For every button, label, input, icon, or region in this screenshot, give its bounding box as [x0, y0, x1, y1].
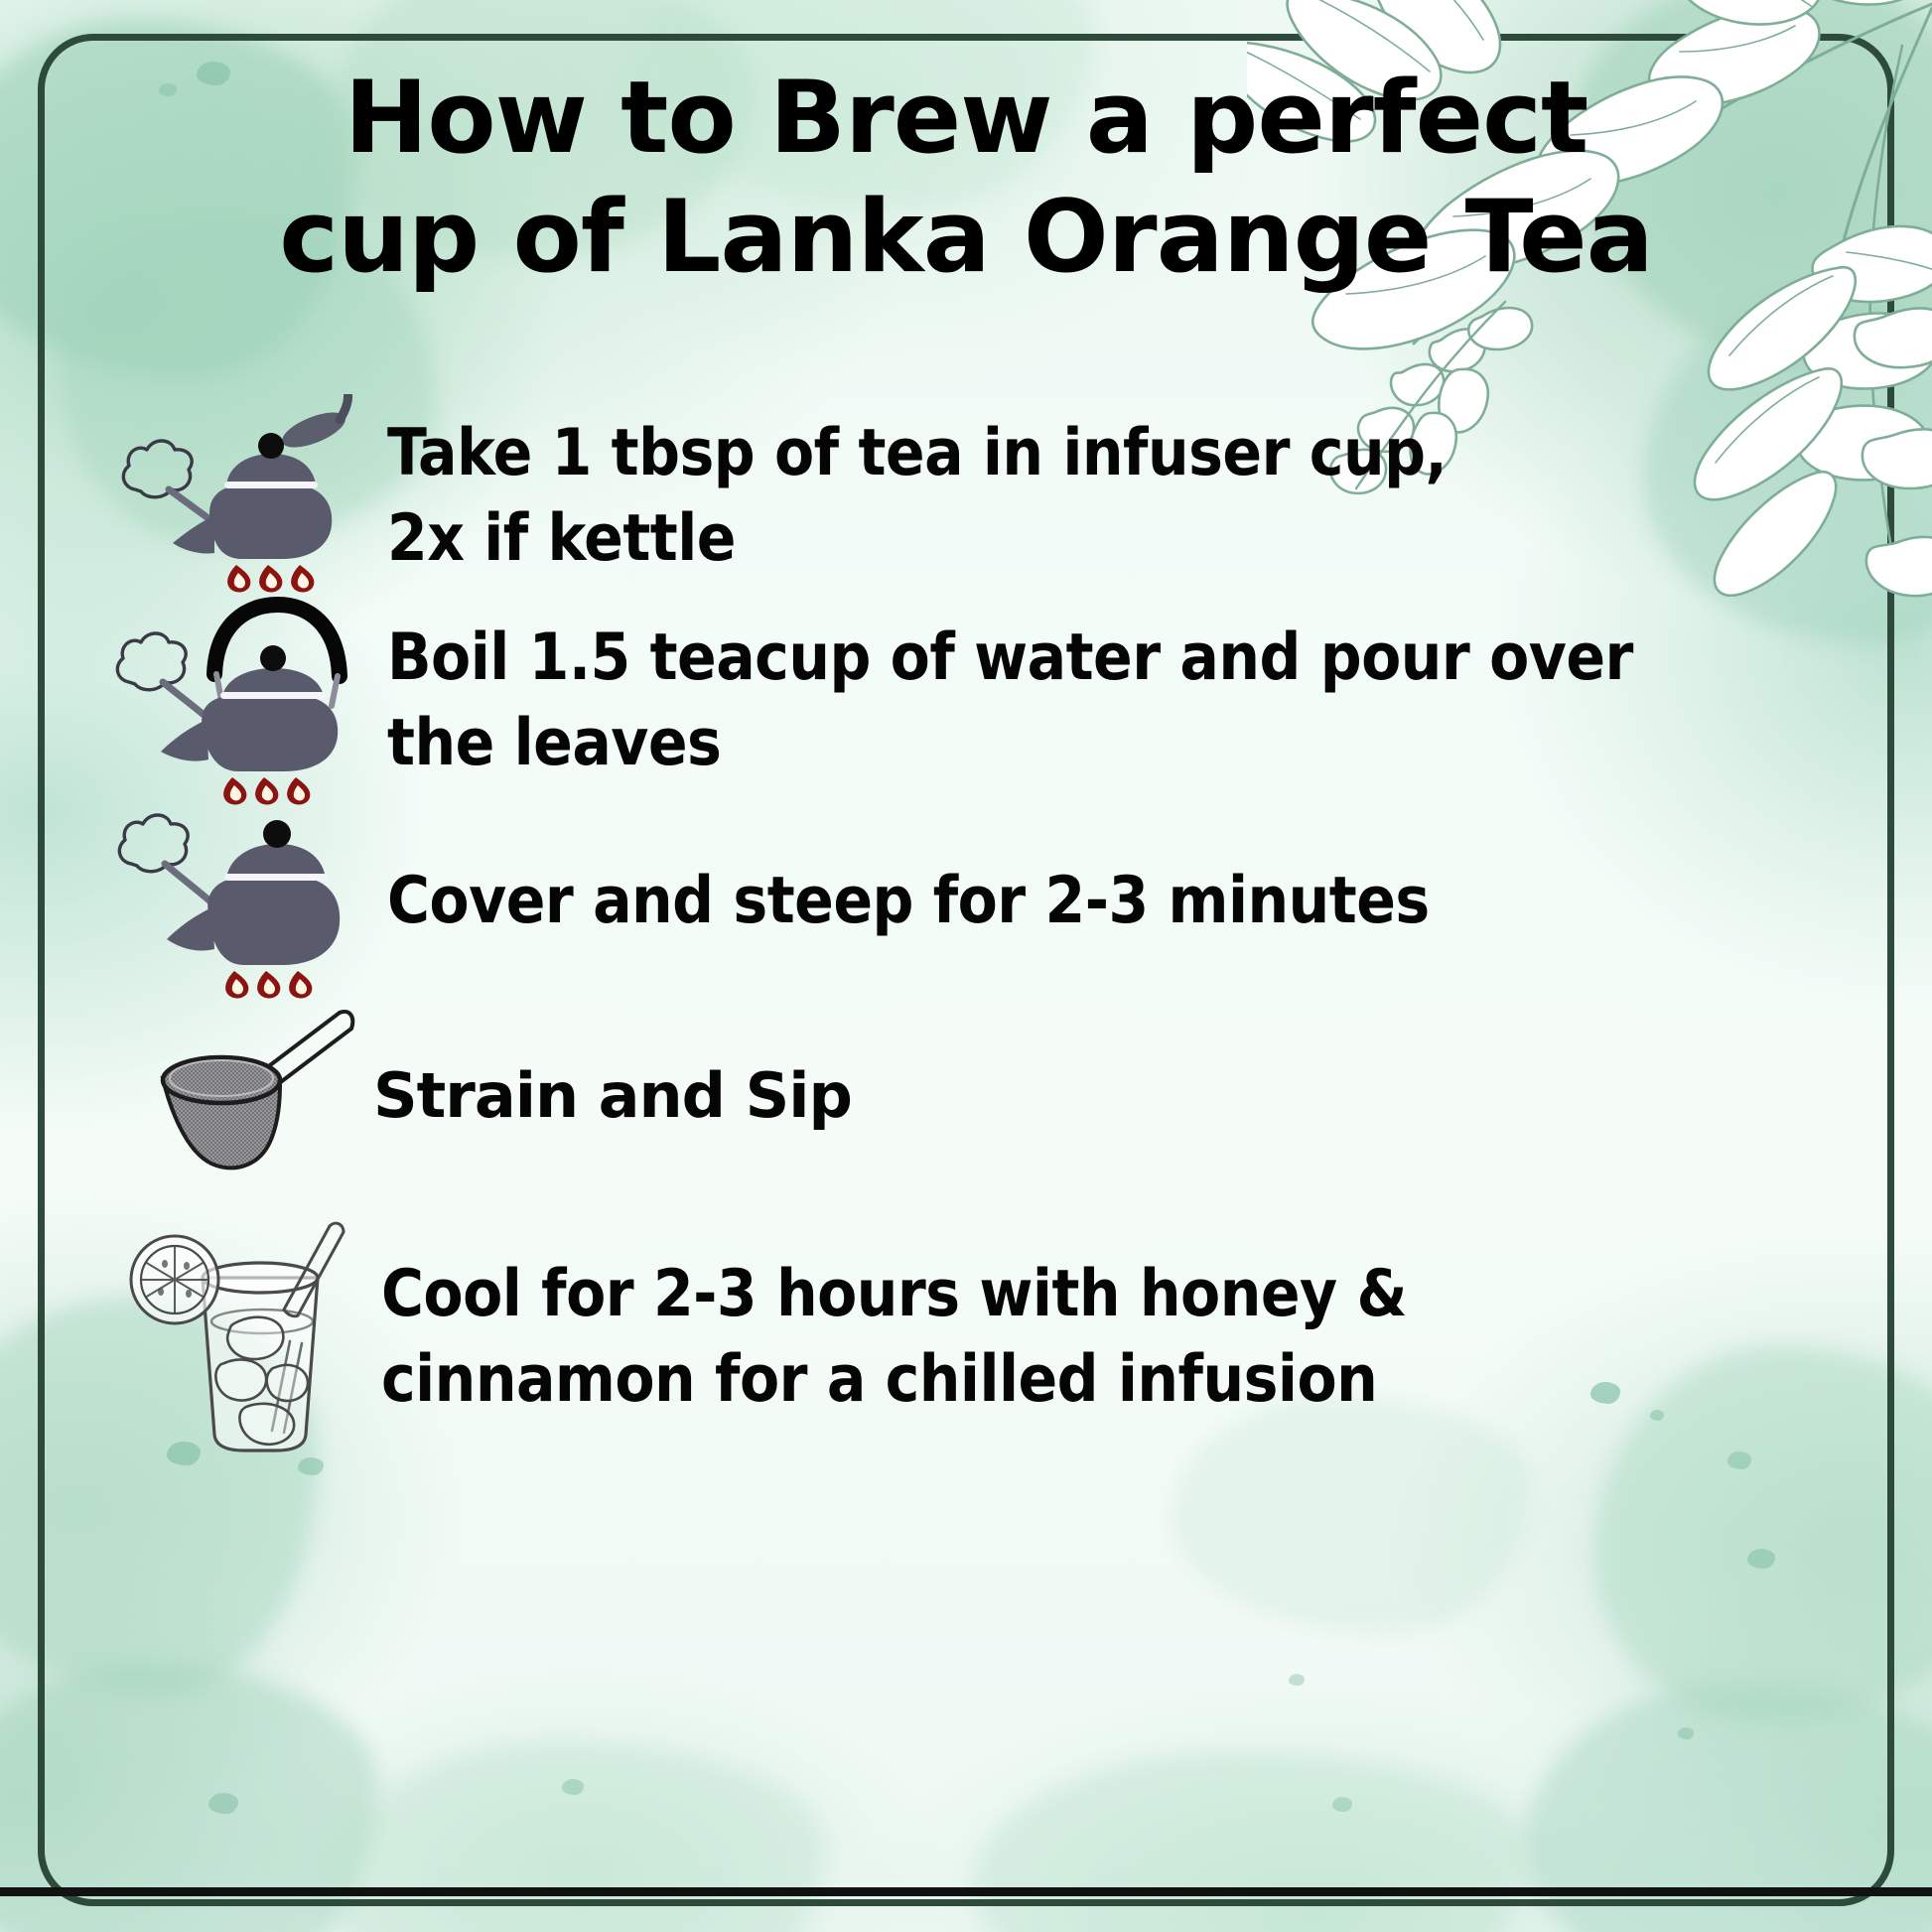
- step-1-text: Take 1 tbsp of tea in infuser cup, 2x if…: [387, 411, 1447, 582]
- watercolor-speck: [1747, 1549, 1775, 1569]
- iced-tea-glass-with-lemon-and-straw-icon: [117, 1218, 359, 1456]
- watercolor-speck: [1678, 1727, 1694, 1739]
- covered-steaming-teapot-on-flame-icon: [103, 802, 361, 1001]
- page-title: How to Brew a perfect cup of Lanka Orang…: [0, 58, 1932, 296]
- step-4-text: Strain and Sip: [373, 1053, 852, 1139]
- step-5-line-2: cinnamon for a chilled infusion: [381, 1337, 1407, 1423]
- step-3-text: Cover and steep for 2-3 minutes: [387, 859, 1430, 944]
- watercolor-speck: [1289, 1674, 1305, 1686]
- watercolor-blotch: [328, 1743, 824, 1932]
- title-line-2: cup of Lanka Orange Tea: [0, 177, 1932, 296]
- step-2-line-2: the leaves: [387, 701, 1633, 786]
- list-item: Cover and steep for 2-3 minutes: [0, 802, 1932, 1001]
- brewing-steps-list: Take 1 tbsp of tea in infuser cup, 2x if…: [0, 389, 1932, 1451]
- title-line-1: How to Brew a perfect: [0, 58, 1932, 177]
- step-1-line-1: Take 1 tbsp of tea in infuser cup,: [387, 411, 1447, 496]
- list-item: Strain and Sip: [0, 1007, 1932, 1185]
- step-2-line-1: Boil 1.5 teacup of water and pour over: [387, 616, 1633, 701]
- watercolor-blotch: [0, 1664, 377, 1932]
- poster-bottom-rule: [0, 1887, 1932, 1896]
- watercolor-speck: [298, 1457, 324, 1475]
- steaming-teapot-on-flame-with-spoon-icon: [103, 394, 361, 593]
- tea-brewing-instruction-poster: How to Brew a perfect cup of Lanka Orang…: [0, 0, 1932, 1932]
- list-item: Boil 1.5 teacup of water and pour over t…: [0, 602, 1932, 800]
- step-2-text: Boil 1.5 teacup of water and pour over t…: [387, 616, 1633, 786]
- step-3-line-1: Cover and steep for 2-3 minutes: [387, 859, 1430, 944]
- steaming-kettle-with-arched-handle-on-flame-icon: [103, 597, 361, 805]
- watercolor-speck: [1727, 1451, 1751, 1469]
- list-item: Take 1 tbsp of tea in infuser cup, 2x if…: [0, 389, 1932, 598]
- list-item: Cool for 2-3 hours with honey & cinnamon…: [0, 1223, 1932, 1451]
- watercolor-speck: [1332, 1797, 1352, 1812]
- watercolor-speck: [562, 1779, 584, 1795]
- mesh-tea-strainer-icon: [135, 1007, 359, 1185]
- watercolor-speck: [208, 1793, 238, 1814]
- step-5-text: Cool for 2-3 hours with honey & cinnamon…: [381, 1252, 1407, 1423]
- step-1-line-2: 2x if kettle: [387, 496, 1447, 582]
- watercolor-blotch: [973, 1753, 1529, 1932]
- watercolor-blotch: [1525, 1684, 1932, 1932]
- step-5-line-1: Cool for 2-3 hours with honey &: [381, 1252, 1407, 1337]
- step-4-line-1: Strain and Sip: [373, 1053, 852, 1139]
